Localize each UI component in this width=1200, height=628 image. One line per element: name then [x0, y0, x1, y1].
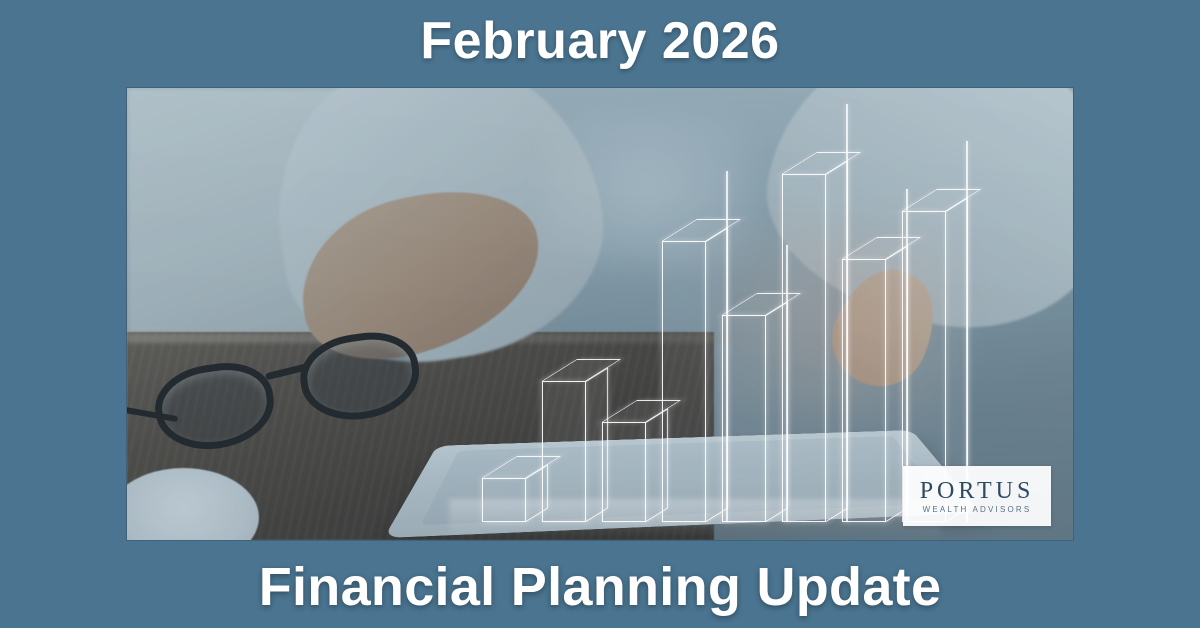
poster: February 2026	[0, 0, 1200, 628]
page-title-top: February 2026	[0, 14, 1200, 69]
chart-reflection	[449, 499, 941, 540]
logo-card: PORTUS WEALTH ADVISORS	[903, 466, 1051, 526]
hero-photo: PORTUS WEALTH ADVISORS	[127, 88, 1073, 540]
logo-wordmark: PORTUS	[920, 479, 1035, 503]
logo-tagline: WEALTH ADVISORS	[923, 506, 1032, 514]
page-title-bottom: Financial Planning Update	[0, 559, 1200, 616]
